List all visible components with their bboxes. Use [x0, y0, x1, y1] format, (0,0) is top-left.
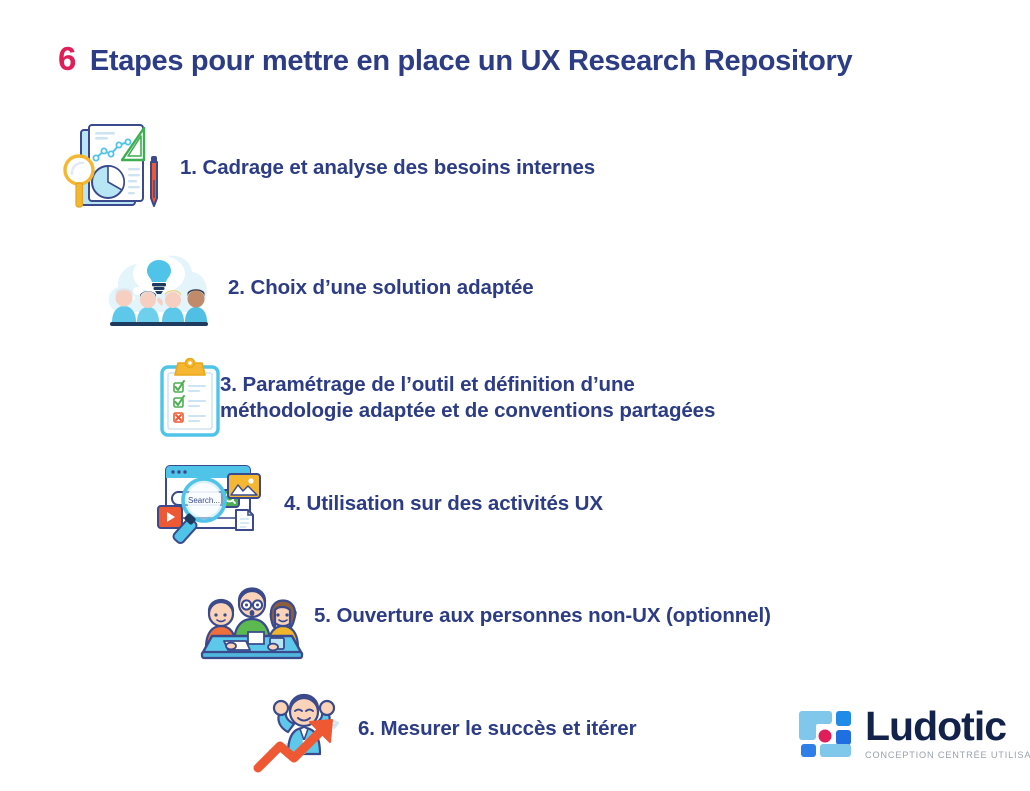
step-label-1: 1. Cadrage et analyse des besoins intern…: [180, 155, 595, 181]
ludotic-logo[interactable]: Ludotic CONCEPTION CENTRÉE UTILISATEUR: [796, 706, 1030, 760]
logo-wordmark: Ludotic: [865, 706, 1030, 746]
step-item-2: 2. Choix d’une solution adaptée: [100, 240, 534, 336]
step-item-4: Search... 4. Utilisation sur des activit…: [152, 456, 603, 552]
step-item-6: 6. Mesurer le succès et itérer: [250, 682, 636, 776]
step-label-4: 4. Utilisation sur des activités UX: [284, 491, 603, 517]
meeting-table-icon: [198, 570, 306, 662]
step-label-6: 6. Mesurer le succès et itérer: [358, 716, 636, 742]
step-label-5: 5. Ouverture aux personnes non-UX (optio…: [314, 603, 771, 629]
svg-text:Search...: Search...: [188, 496, 220, 505]
logo-text-block: Ludotic CONCEPTION CENTRÉE UTILISATEUR: [865, 706, 1030, 760]
step-label-3: 3. Paramétrage de l’outil et définition …: [220, 372, 715, 424]
title-step-count: 6: [58, 40, 76, 78]
search-browser-icon: Search...: [152, 456, 270, 552]
clipboard-checklist-icon: [150, 355, 230, 441]
step-label-2: 2. Choix d’une solution adaptée: [228, 275, 534, 301]
success-arrow-icon: [250, 682, 358, 776]
page-title: 6 Etapes pour mettre en place un UX Rese…: [58, 40, 852, 78]
ludotic-logo-mark-icon: [796, 706, 854, 760]
logo-tagline: CONCEPTION CENTRÉE UTILISATEUR: [865, 750, 1030, 760]
team-idea-icon: [100, 240, 218, 336]
step-item-5: 5. Ouverture aux personnes non-UX (optio…: [198, 570, 771, 662]
step-item-1: 1. Cadrage et analyse des besoins intern…: [56, 120, 595, 216]
analysis-document-icon: [56, 120, 174, 216]
title-heading-text: Etapes pour mettre en place un UX Resear…: [90, 45, 853, 78]
step-item-3: 3. Paramétrage de l’outil et définition …: [150, 355, 715, 441]
